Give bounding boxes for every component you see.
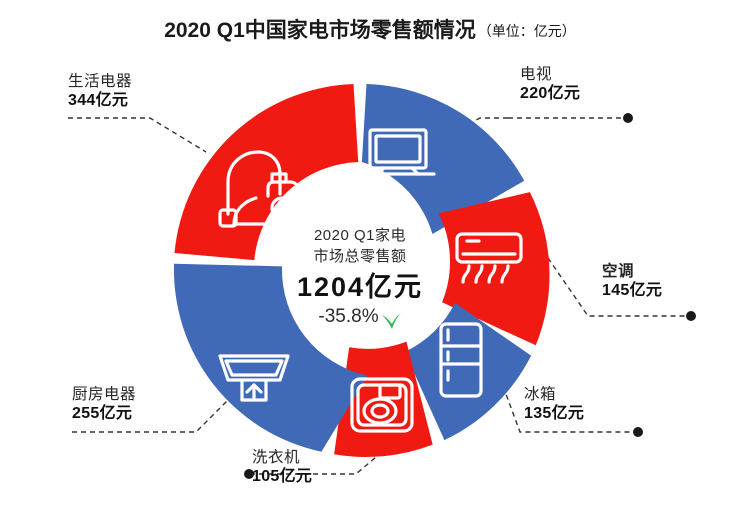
leader-line-living — [68, 118, 206, 152]
leader-dot-ac — [686, 311, 696, 321]
callout-living-value: 344亿元 — [68, 91, 132, 111]
callout-kitchen: 厨房电器 255亿元 — [72, 385, 136, 424]
callout-ac-name: 空调 — [602, 262, 662, 281]
callout-kitchen-value: 255亿元 — [72, 404, 136, 424]
callout-fridge-name: 冰箱 — [524, 385, 584, 404]
callout-washer-value: 105亿元 — [252, 467, 312, 487]
leader-dot-tv — [623, 113, 633, 123]
callout-washer: 洗衣机 105亿元 — [252, 448, 312, 487]
callout-tv-value: 220亿元 — [520, 84, 580, 104]
segment-living[interactable] — [174, 84, 358, 260]
callout-ac-value: 145亿元 — [602, 281, 662, 301]
callout-living-name: 生活电器 — [68, 72, 132, 91]
callout-tv: 电视 220亿元 — [520, 65, 580, 104]
callout-washer-name: 洗衣机 — [252, 448, 312, 467]
callout-ac: 空调 145亿元 — [602, 262, 662, 301]
callout-fridge-value: 135亿元 — [524, 404, 584, 424]
infographic-canvas: 2020 Q1中国家电市场零售额情况（单位：亿元） — [0, 0, 740, 516]
callout-tv-name: 电视 — [520, 65, 580, 84]
callout-kitchen-name: 厨房电器 — [72, 385, 136, 404]
callout-fridge: 冰箱 135亿元 — [524, 385, 584, 424]
callout-living: 生活电器 344亿元 — [68, 72, 132, 111]
leader-dot-fridge — [633, 427, 643, 437]
